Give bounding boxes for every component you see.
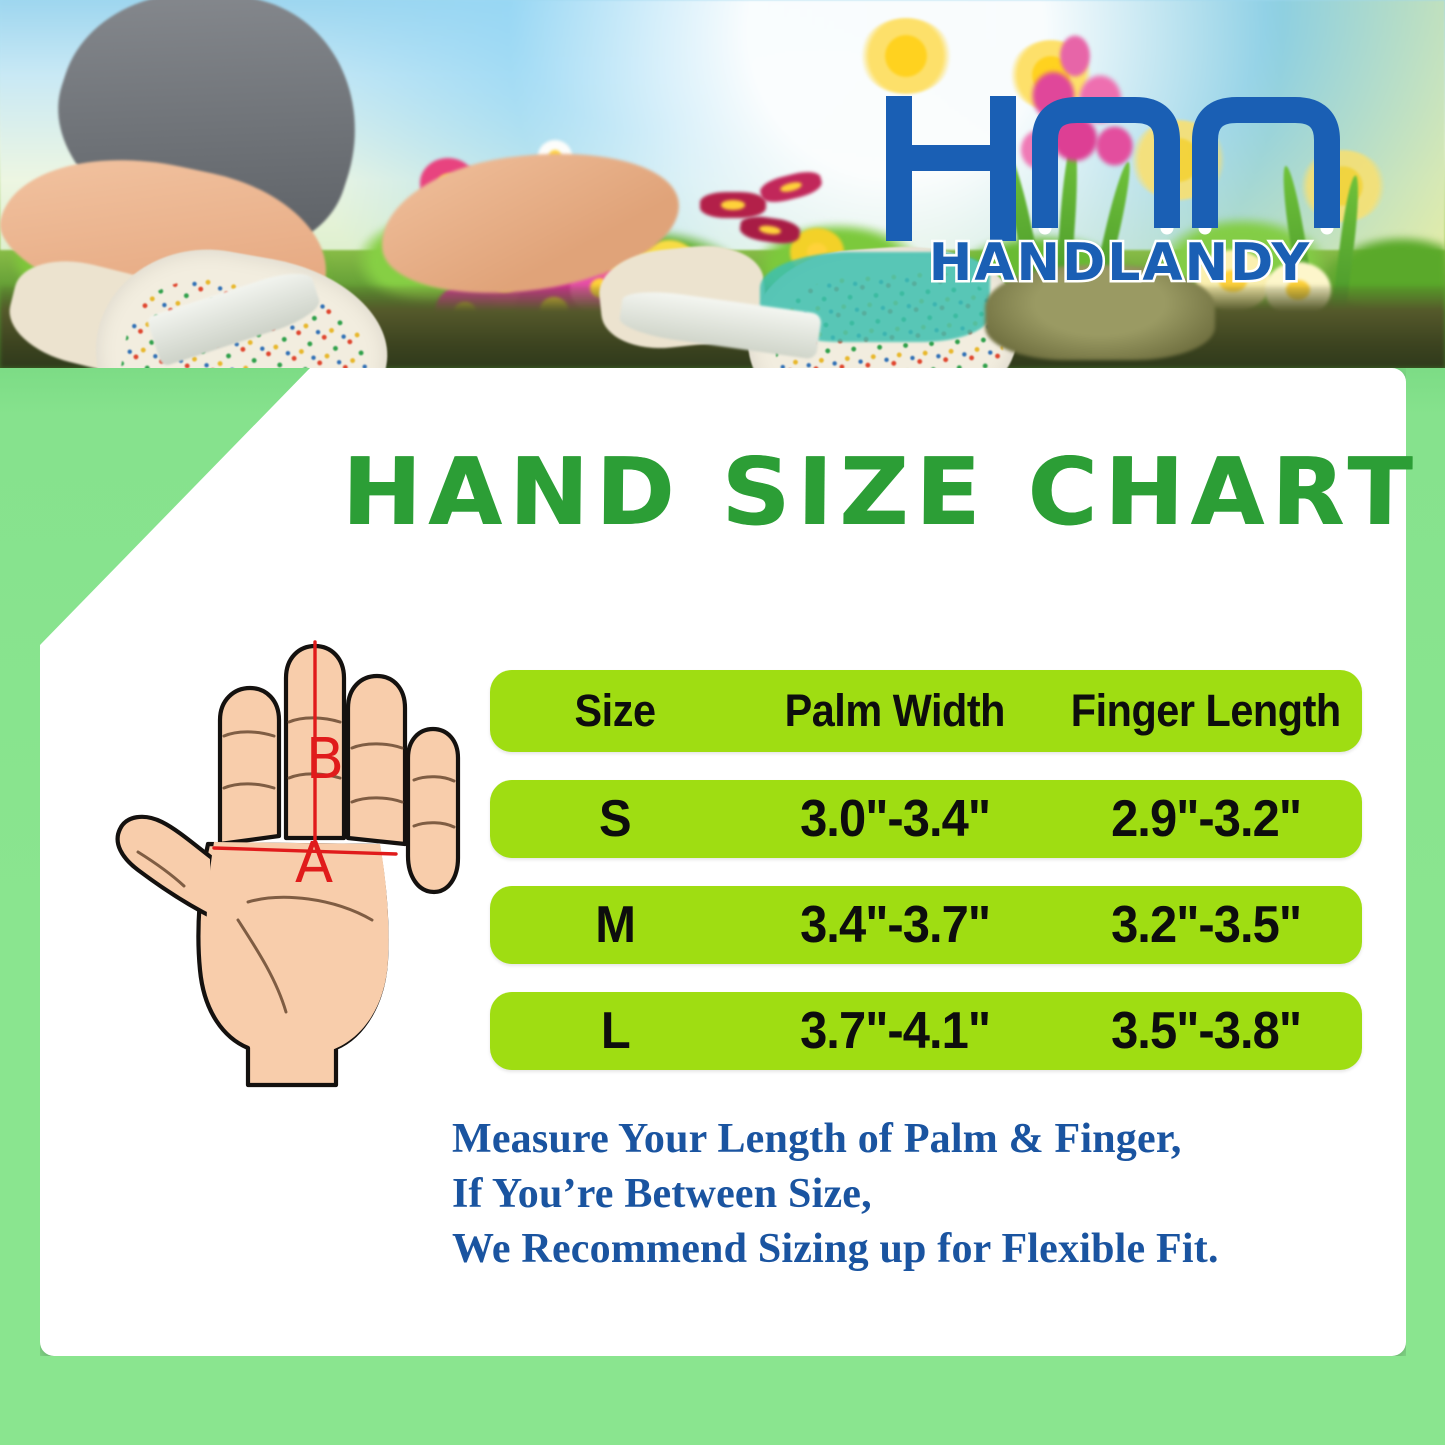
size-chart-table: Size Palm Width Finger Length S 3.0"-3.4… [490,670,1362,1098]
cell-palm-width: 3.7"-4.1" [740,1001,1050,1061]
note-line-1: Measure Your Length of Palm & Finger, [452,1112,1352,1167]
cell-finger-length: 3.5"-3.8" [1050,1001,1362,1061]
cell-finger-length: 3.2"-3.5" [1050,895,1362,955]
note-line-2: If You’re Between Size, [452,1167,1352,1222]
cell-size: L [490,1001,740,1061]
brand-logo: HANDLANDY [885,96,1355,286]
hand-measurement-diagram: A B [96,630,486,1090]
finger-index [220,688,279,844]
label-a: A [295,831,333,896]
header-cell-palm-width: Palm Width [740,685,1050,737]
finger-pinky [408,729,458,892]
table-header-row: Size Palm Width Finger Length [490,670,1362,752]
cell-finger-length: 2.9"-3.2" [1050,789,1362,849]
label-b: B [306,727,344,792]
crimson-spike-flower [700,192,766,218]
note-line-3: We Recommend Sizing up for Flexible Fit. [452,1222,1352,1277]
header-cell-finger-length: Finger Length [1050,685,1362,737]
finger-ring [348,676,405,844]
cell-palm-width: 3.4"-3.7" [740,895,1050,955]
daffodil-flower [860,18,952,94]
cell-size: M [490,895,740,955]
hero-banner-photo: HANDLANDY [0,0,1445,368]
thumb [118,817,214,918]
header-cell-size: Size [490,685,740,737]
size-chart-page: HANDLANDY HAND SIZE CHART [0,0,1445,1445]
table-row: L 3.7"-4.1" 3.5"-3.8" [490,992,1362,1070]
table-row: M 3.4"-3.7" 3.2"-3.5" [490,886,1362,964]
table-row: S 3.0"-3.4" 2.9"-3.2" [490,780,1362,858]
measurement-instructions: Measure Your Length of Palm & Finger, If… [452,1112,1352,1277]
cell-palm-width: 3.0"-3.4" [740,789,1050,849]
logo-wordmark: HANDLANDY [929,233,1311,286]
page-title: HAND SIZE CHART [341,446,1382,539]
cell-size: S [490,789,740,849]
